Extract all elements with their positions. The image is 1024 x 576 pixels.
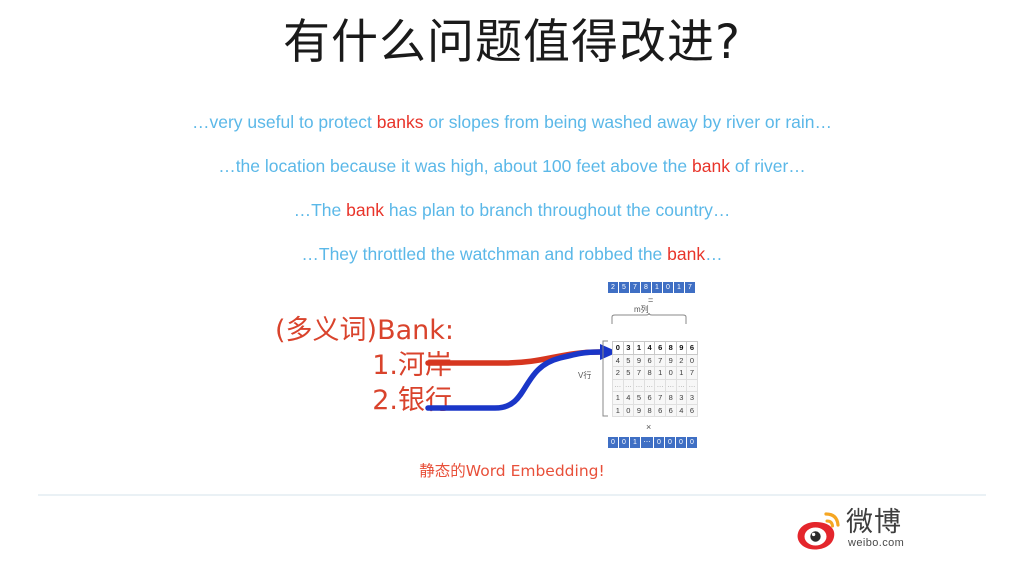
matrix-cell: 4 <box>613 354 624 367</box>
matrix-cell: 4 <box>644 342 655 355</box>
matrix-cell: 0 <box>623 404 634 417</box>
matrix-cell: 1 <box>613 404 624 417</box>
columns-brace-icon <box>610 313 690 325</box>
matrix-cell: 5 <box>623 354 634 367</box>
sentence-2-keyword: bank <box>692 156 730 176</box>
weibo-url: weibo.com <box>848 537 904 549</box>
weibo-logo-icon <box>796 511 844 553</box>
rows-label: V行 <box>578 370 591 381</box>
matrix-cell: 9 <box>665 354 676 367</box>
matrix-cell: … <box>623 379 634 392</box>
matrix-cell: 8 <box>665 392 676 405</box>
output-vector-cell: 1 <box>674 282 684 293</box>
matrix-cell: … <box>687 379 698 392</box>
sentence-3-pre: …The <box>294 200 347 220</box>
onehot-vector-cell: ⋯ <box>641 437 653 448</box>
output-vector-cell: 0 <box>663 282 673 293</box>
output-vector-cell: 5 <box>619 282 629 293</box>
onehot-vector-cell: 0 <box>687 437 697 448</box>
matrix-cell: 6 <box>655 342 666 355</box>
onehot-vector-cell: 0 <box>654 437 664 448</box>
matrix-row: 0 3 1 4 6 8 9 6 <box>613 342 698 355</box>
matrix-cell: 1 <box>613 392 624 405</box>
sentence-2-post: of river… <box>730 156 806 176</box>
onehot-vector-cell: 0 <box>676 437 686 448</box>
polysemy-heading: (多义词)Bank: <box>275 313 454 348</box>
matrix-cell: 0 <box>613 342 624 355</box>
onehot-vector-cell: 0 <box>619 437 629 448</box>
sentence-4-pre: …They throttled the watchman and robbed … <box>301 244 667 264</box>
sentence-4-keyword: bank <box>667 244 705 264</box>
output-vector-cell: 7 <box>685 282 695 293</box>
matrix-cell: 8 <box>644 404 655 417</box>
polysemy-sense-1: 1.河岸 <box>275 348 454 383</box>
matrix-cell: 6 <box>644 392 655 405</box>
matrix-cell: … <box>634 379 645 392</box>
onehot-vector: 0 0 1 ⋯ 0 0 0 0 <box>608 437 697 448</box>
sentence-1-post: or slopes from being washed away by rive… <box>424 112 833 132</box>
matrix-cell: 8 <box>644 367 655 380</box>
matrix-cell: 6 <box>665 404 676 417</box>
sentence-1-pre: …very useful to protect <box>192 112 377 132</box>
footer-divider <box>38 494 986 496</box>
matrix-cell: 4 <box>623 392 634 405</box>
onehot-vector-cell: 0 <box>665 437 675 448</box>
output-vector: 2 5 7 8 1 0 1 7 <box>608 282 695 293</box>
example-sentence-3: …The bank has plan to branch throughout … <box>0 202 1024 220</box>
matrix-cell: 5 <box>634 392 645 405</box>
weibo-branding: 微博 weibo.com <box>796 507 922 557</box>
matrix-cell: … <box>676 379 687 392</box>
matrix-cell: 3 <box>623 342 634 355</box>
matrix-cell: 7 <box>634 367 645 380</box>
output-vector-cell: 1 <box>652 282 662 293</box>
matrix-cell: 3 <box>687 392 698 405</box>
page-title: 有什么问题值得改进? <box>0 14 1024 73</box>
output-vector-cell: 8 <box>641 282 651 293</box>
matrix-cell: 0 <box>665 367 676 380</box>
matrix-cell: … <box>665 379 676 392</box>
sentence-1-keyword: banks <box>377 112 424 132</box>
matrix-row: 4 5 9 6 7 9 2 0 <box>613 354 698 367</box>
matrix-cell: 6 <box>687 404 698 417</box>
matrix-cell: 0 <box>687 354 698 367</box>
onehot-vector-cell: 0 <box>608 437 618 448</box>
matrix-row: 2 5 7 8 1 0 1 7 <box>613 367 698 380</box>
matrix-cell: 1 <box>676 367 687 380</box>
multiply-symbol: × <box>646 422 651 432</box>
sentence-4-post: … <box>705 244 723 264</box>
embedding-matrix: 0 3 1 4 6 8 9 6 4 5 9 6 7 9 2 0 2 5 <box>612 341 698 417</box>
diagram-caption: 静态的Word Embedding! <box>0 459 1024 481</box>
matrix-cell: 5 <box>623 367 634 380</box>
connector-arrows <box>0 0 1024 576</box>
equals-symbol: = <box>648 295 653 305</box>
onehot-vector-cell: 1 <box>630 437 640 448</box>
matrix-cell: 1 <box>634 342 645 355</box>
matrix-cell: … <box>613 379 624 392</box>
slide-root: 有什么问题值得改进? …very useful to protect banks… <box>0 0 1024 576</box>
matrix-cell: … <box>655 379 666 392</box>
matrix-cell: 3 <box>676 392 687 405</box>
matrix-cell: 2 <box>613 367 624 380</box>
example-sentence-2: …the location because it was high, about… <box>0 158 1024 176</box>
weibo-name: 微博 <box>846 509 902 537</box>
matrix-cell: 9 <box>676 342 687 355</box>
matrix-cell: 6 <box>655 404 666 417</box>
matrix-cell: 7 <box>655 392 666 405</box>
polysemy-sense-2: 2.银行 <box>275 383 454 418</box>
matrix-cell: 7 <box>687 367 698 380</box>
matrix-cell: 9 <box>634 404 645 417</box>
matrix-cell: … <box>644 379 655 392</box>
output-vector-cell: 2 <box>608 282 618 293</box>
matrix-cell: 7 <box>655 354 666 367</box>
matrix-cell: 1 <box>655 367 666 380</box>
matrix-cell: 6 <box>644 354 655 367</box>
matrix-row: 1 0 9 8 6 6 4 6 <box>613 404 698 417</box>
matrix-cell: 2 <box>676 354 687 367</box>
matrix-cell: 4 <box>676 404 687 417</box>
matrix-row: … … … … … … … … <box>613 379 698 392</box>
sentence-3-post: has plan to branch throughout the countr… <box>384 200 730 220</box>
example-sentences: …very useful to protect banks or slopes … <box>0 114 1024 264</box>
matrix-cell: 8 <box>665 342 676 355</box>
embedding-lookup-diagram: 2 5 7 8 1 0 1 7 = m列 V行 0 3 1 4 6 <box>578 282 708 460</box>
output-vector-cell: 7 <box>630 282 640 293</box>
rows-bracket-icon <box>600 340 610 418</box>
matrix-row: 1 4 5 6 7 8 3 3 <box>613 392 698 405</box>
polysemy-annotation: (多义词)Bank: 1.河岸 2.银行 <box>275 313 454 418</box>
example-sentence-4: …They throttled the watchman and robbed … <box>0 246 1024 264</box>
matrix-cell: 9 <box>634 354 645 367</box>
sentence-3-keyword: bank <box>346 200 384 220</box>
sentence-2-pre: …the location because it was high, about… <box>218 156 692 176</box>
matrix-cell: 6 <box>687 342 698 355</box>
example-sentence-1: …very useful to protect banks or slopes … <box>0 114 1024 132</box>
